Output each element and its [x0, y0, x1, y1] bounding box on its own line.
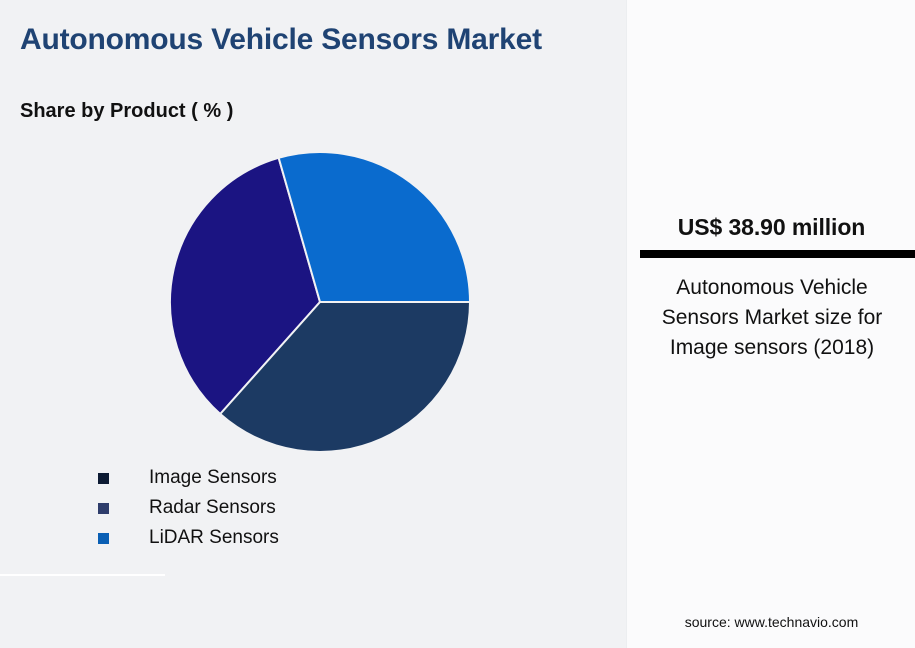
legend-swatch-icon [98, 503, 109, 514]
pie-chart-svg [170, 152, 470, 452]
legend-item-label: Image Sensors [149, 467, 277, 489]
legend-item-lidar-sensors[interactable]: LiDAR Sensors [98, 523, 518, 553]
infographic-root: Autonomous Vehicle Sensors Market Share … [0, 0, 915, 648]
footer-divider [0, 574, 165, 576]
legend-swatch-icon [98, 473, 109, 484]
callout-divider [640, 250, 915, 258]
callout-value: US$ 38.90 million [627, 214, 915, 241]
legend-item-radar-sensors[interactable]: Radar Sensors [98, 493, 518, 523]
chart-panel: Autonomous Vehicle Sensors Market Share … [0, 0, 626, 648]
callout-description: Autonomous Vehicle Sensors Market size f… [641, 273, 903, 363]
callout-panel: US$ 38.90 million Autonomous Vehicle Sen… [626, 0, 915, 648]
legend-swatch-icon [98, 533, 109, 544]
pie-chart [170, 152, 470, 452]
chart-subtitle: Share by Product ( % ) [20, 99, 580, 123]
chart-legend: Image Sensors Radar Sensors LiDAR Sensor… [98, 463, 518, 553]
legend-item-label: LiDAR Sensors [149, 527, 279, 549]
source-note: source: www.technavio.com [627, 614, 915, 630]
legend-item-label: Radar Sensors [149, 497, 276, 519]
page-title: Autonomous Vehicle Sensors Market [20, 24, 580, 56]
legend-item-image-sensors[interactable]: Image Sensors [98, 463, 518, 493]
